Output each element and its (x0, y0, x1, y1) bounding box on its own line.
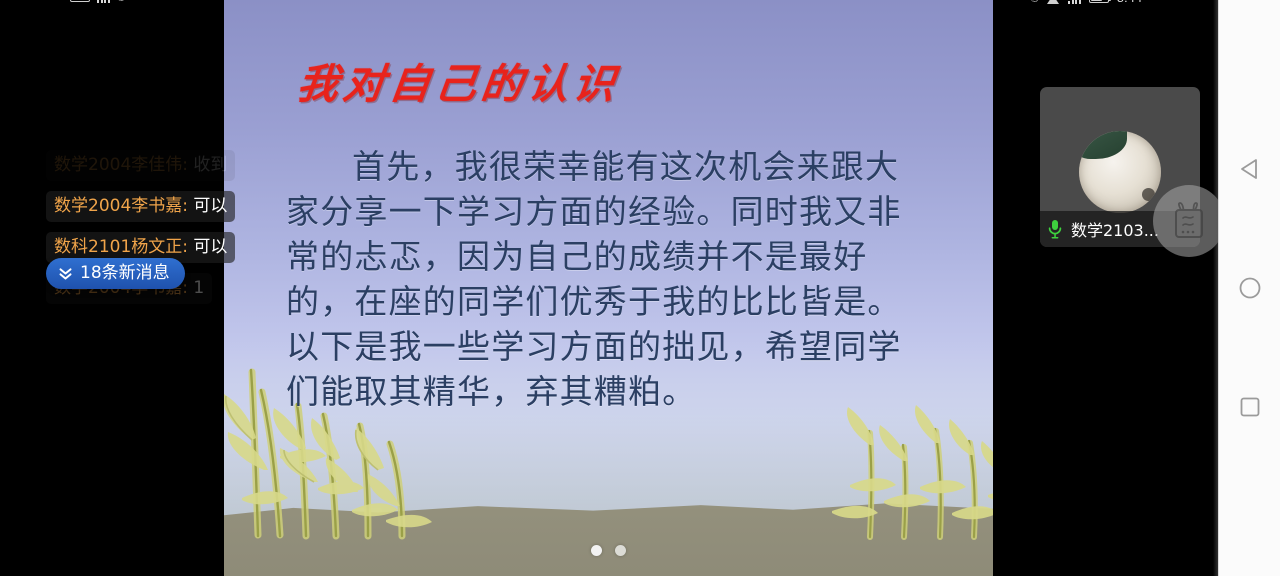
battery-icon (70, 0, 90, 2)
status-bar: ⏱ ⏱ 8:44 (0, 0, 1218, 16)
chat-text: 1 (193, 278, 204, 298)
new-messages-badge[interactable]: 18条新消息 (46, 258, 185, 289)
chat-text: 收到 (193, 155, 227, 175)
status-clock: 8:44 (1117, 0, 1143, 5)
chat-message-row[interactable]: 数学2004李书嘉: 可以 (0, 191, 224, 222)
slide-body-text: 首先，我很荣幸能有这次机会来跟大家分享一下学习方面的经验。同时我又非常的忐忑，因… (286, 144, 926, 414)
chat-bubble: 数学2004李佳伟: 收到 (46, 150, 235, 181)
circle-icon (1237, 275, 1263, 301)
chat-overlay: 数学2004李佳伟: 收到 数学2004李书嘉: 可以 数科2101杨文正: 可… (0, 150, 224, 314)
signal-bars-icon-right (1068, 0, 1081, 4)
chat-message-row[interactable]: 数学2004李佳伟: 收到 (0, 150, 224, 181)
slide-title: 我对自己的认识 (294, 50, 623, 110)
chat-text: 可以 (193, 196, 227, 216)
chat-text: 可以 (193, 237, 227, 257)
chat-sender: 数学2004李佳伟 (54, 155, 182, 175)
nav-back-button[interactable] (1230, 149, 1270, 189)
whiteboard-note-icon (1170, 201, 1208, 241)
new-messages-label: 18条新消息 (80, 264, 170, 282)
triangle-left-icon (1237, 156, 1263, 182)
page-dot-2[interactable] (615, 545, 626, 556)
battery-icon-right (1089, 0, 1109, 3)
double-chevron-down-icon (57, 266, 74, 281)
nav-recents-button[interactable] (1230, 387, 1270, 427)
status-bar-left: ⏱ (70, 0, 126, 3)
slide-page-indicator[interactable] (224, 545, 993, 556)
screen-root: 我对自己的认识 首先，我很荣幸能有这次机会来跟大家分享一下学习方面的经验。同时我… (0, 0, 1280, 576)
square-icon (1237, 394, 1263, 420)
status-bar-right: ⏱ 8:44 (1030, 0, 1142, 5)
chat-bubble: 数学2004李书嘉: 可以 (46, 191, 235, 222)
chat-sender: 数学2004李书嘉 (54, 196, 182, 216)
page-dot-1[interactable] (591, 545, 602, 556)
microphone-icon (1048, 219, 1062, 239)
avatar (1079, 131, 1161, 213)
nav-home-button[interactable] (1230, 268, 1270, 308)
participant-name: 数学2103... (1071, 217, 1159, 241)
shared-slide[interactable]: 我对自己的认识 首先，我很荣幸能有这次机会来跟大家分享一下学习方面的经验。同时我… (224, 0, 993, 576)
alarm-icon-right: ⏱ (1030, 0, 1039, 4)
chat-sender: 数科2101杨文正 (54, 237, 182, 257)
alarm-icon: ⏱ (117, 0, 126, 3)
signal-bars-icon (97, 0, 110, 3)
wifi-icon (1047, 0, 1060, 4)
android-nav-bar (1218, 0, 1280, 576)
